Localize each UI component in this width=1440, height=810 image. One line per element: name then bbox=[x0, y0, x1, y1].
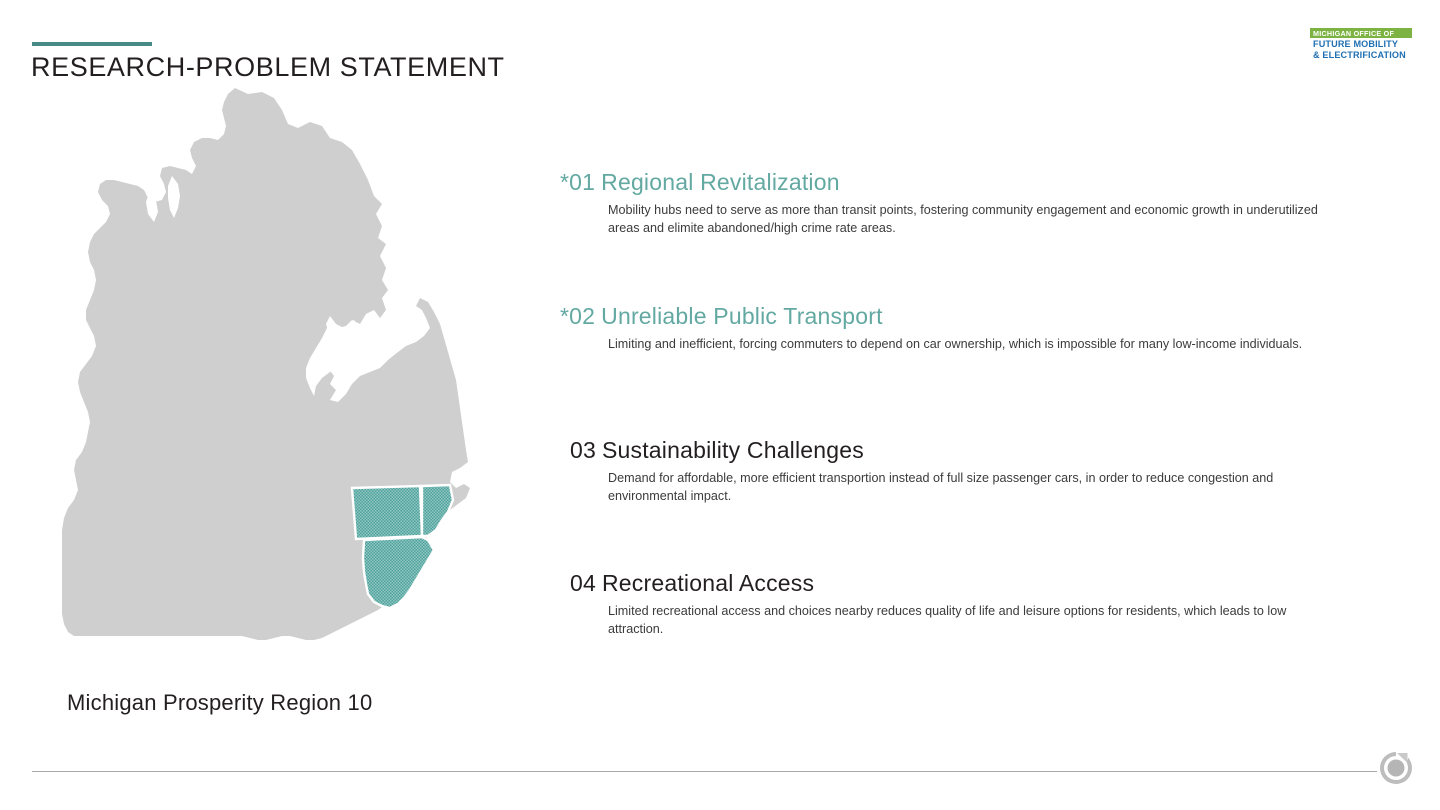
michigan-lower-peninsula-map bbox=[30, 84, 502, 656]
problem-body-04: Limited recreational access and choices … bbox=[608, 603, 1328, 639]
county-genesee bbox=[352, 486, 422, 539]
brand-logo-line3: & ELECTRIFICATION bbox=[1310, 51, 1412, 60]
problem-number-01: *01 bbox=[560, 169, 595, 195]
county-macomb-oakland bbox=[363, 537, 434, 608]
brand-logo-line2: FUTURE MOBILITY bbox=[1310, 40, 1412, 49]
page-title: RESEARCH-PROBLEM STATEMENT bbox=[31, 52, 505, 83]
circular-ring-logo-icon bbox=[1378, 750, 1414, 786]
problem-title-03: Sustainability Challenges bbox=[602, 437, 864, 463]
problem-number-03: 03 bbox=[570, 437, 596, 463]
brand-logo-line1: MICHIGAN OFFICE OF bbox=[1310, 28, 1412, 38]
problem-item-02: *02Unreliable Public Transport Limiting … bbox=[560, 304, 1360, 354]
brand-logo: MICHIGAN OFFICE OF FUTURE MOBILITY & ELE… bbox=[1310, 28, 1412, 60]
problem-number-04: 04 bbox=[570, 570, 596, 596]
problem-title-04: Recreational Access bbox=[602, 570, 814, 596]
problem-heading-01: *01Regional Revitalization bbox=[560, 170, 1360, 195]
map-highlight-region-10 bbox=[352, 485, 453, 608]
problem-title-02: Unreliable Public Transport bbox=[601, 303, 883, 329]
problem-title-01: Regional Revitalization bbox=[601, 169, 840, 195]
problem-body-01: Mobility hubs need to serve as more than… bbox=[608, 202, 1328, 238]
problem-heading-04: 04Recreational Access bbox=[570, 571, 1370, 596]
problem-item-01: *01Regional Revitalization Mobility hubs… bbox=[560, 170, 1360, 238]
problem-item-03: 03Sustainability Challenges Demand for a… bbox=[570, 438, 1370, 506]
problem-item-04: 04Recreational Access Limited recreation… bbox=[570, 571, 1370, 639]
problem-number-02: *02 bbox=[560, 303, 595, 329]
title-accent-bar bbox=[32, 42, 152, 46]
footer-divider bbox=[32, 771, 1377, 772]
problem-body-02: Limiting and inefficient, forcing commut… bbox=[608, 336, 1328, 354]
problem-body-03: Demand for affordable, more efficient tr… bbox=[608, 470, 1328, 506]
problem-heading-03: 03Sustainability Challenges bbox=[570, 438, 1370, 463]
problem-heading-02: *02Unreliable Public Transport bbox=[560, 304, 1360, 329]
map-caption: Michigan Prosperity Region 10 bbox=[67, 690, 372, 716]
county-lapeer bbox=[422, 485, 453, 536]
